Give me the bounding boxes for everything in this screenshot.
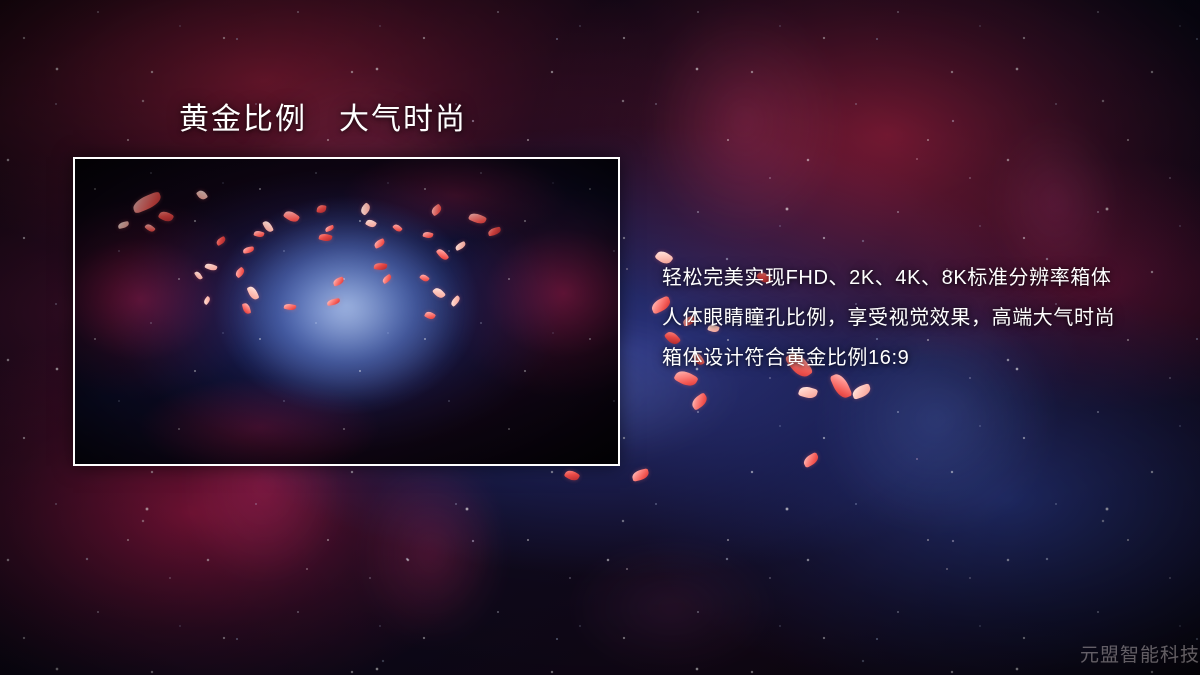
watermark: 元盟智能科技 [1080,640,1200,667]
petal [798,384,819,400]
presentation-slide: 黄金比例 大气时尚 轻松完美实现FHD、2K、4K、8K标准分辨率箱体 人体眼睛… [0,0,1200,675]
petal [564,468,581,483]
body-line-3: 箱体设计符合黄金比例16:9 [662,338,1182,378]
body-line-2: 人体眼睛瞳孔比例，享受视觉效果，高端大气时尚 [662,298,1182,338]
preview-vignette [75,159,618,464]
body-text-block: 轻松完美实现FHD、2K、4K、8K标准分辨率箱体 人体眼睛瞳孔比例，享受视觉效… [662,258,1182,378]
preview-panel-content [75,159,618,464]
preview-panel [73,157,620,466]
petal [851,383,873,400]
petal [631,468,650,482]
body-line-1: 轻松完美实现FHD、2K、4K、8K标准分辨率箱体 [662,258,1182,298]
petal [689,392,709,411]
slide-title: 黄金比例 大气时尚 [179,101,467,139]
petal [802,452,821,468]
